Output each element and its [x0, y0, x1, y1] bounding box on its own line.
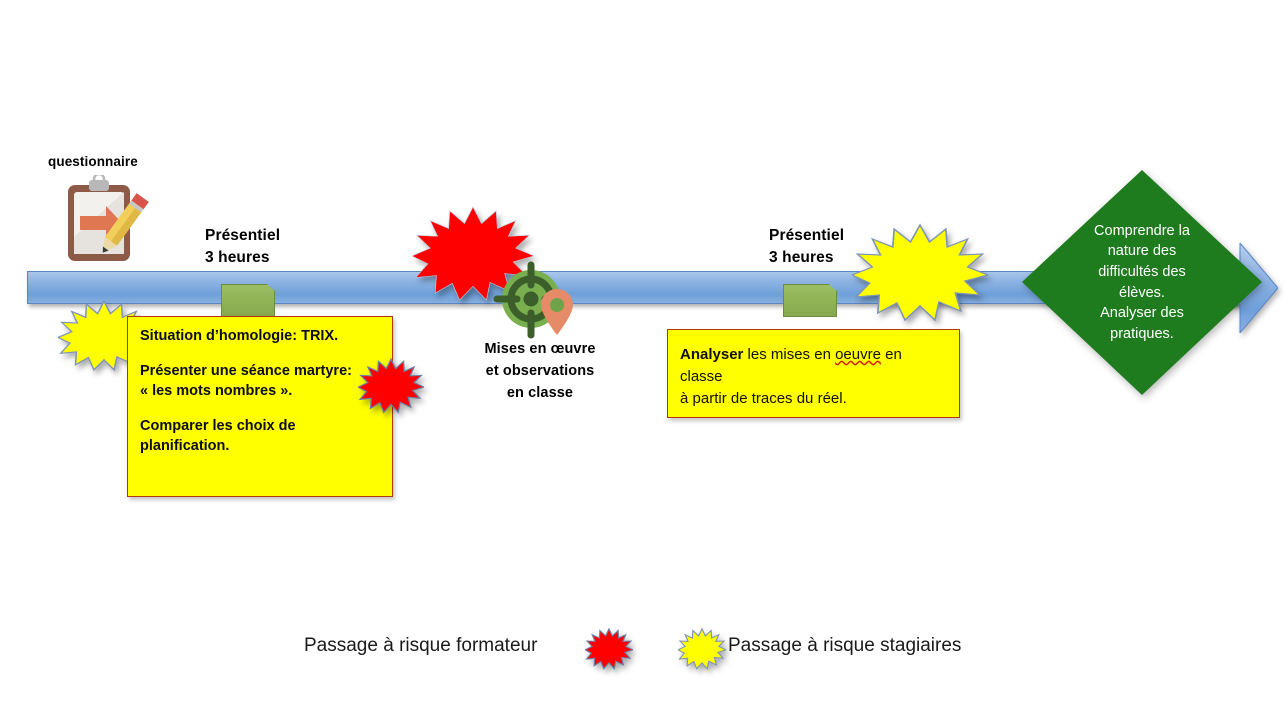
- legend-red-star-icon: [585, 628, 633, 670]
- legend-label-formateur: Passage à risque formateur: [304, 635, 537, 657]
- box2-text-a: les mises en: [743, 346, 835, 363]
- box1-line-3: Comparer les choix de planification.: [140, 416, 380, 456]
- target-crosshair-map-pin-icon: [491, 255, 579, 348]
- legend-label-stagiaires: Passage à risque stagiaires: [728, 635, 961, 657]
- box2-paragraph: Analyser les mises en oeuvre en classe à…: [680, 344, 947, 409]
- label-mises-en-oeuvre: Mises en œuvre et observations en classe: [466, 339, 614, 404]
- box2-spellchecked-word: oeuvre: [835, 346, 881, 363]
- red-star-box1: [358, 358, 424, 414]
- box1-line-1: Situation d’homologie: TRIX.: [140, 326, 380, 346]
- clipboard-arrow-pencil-icon: [62, 175, 154, 276]
- label-presentiel-2: Présentiel 3 heures: [769, 225, 844, 269]
- yellow-star-timeline-right: [852, 223, 988, 323]
- yellow-box-presentiel-2: Analyser les mises en oeuvre en classe à…: [667, 329, 960, 418]
- timeline-tab-presentiel-2: [783, 284, 837, 317]
- yellow-box-presentiel-1: Situation d’homologie: TRIX. Présenter u…: [127, 316, 393, 497]
- legend-yellow-star-icon: [678, 628, 726, 670]
- outcome-diamond: Comprendre la nature des difficultés des…: [1022, 170, 1262, 395]
- label-presentiel-1: Présentiel 3 heures: [205, 225, 280, 269]
- box2-bold-lead: Analyser: [680, 346, 743, 363]
- questionnaire-label: questionnaire: [48, 152, 138, 171]
- box2-text-line2: à partir de traces du réel.: [680, 390, 847, 407]
- slide-canvas: questionnaire Présentiel 3 heures Pré: [0, 0, 1285, 713]
- box1-line-2: Présenter une séance martyre: « les mots…: [140, 361, 380, 401]
- timeline-tab-presentiel-1: [221, 284, 275, 317]
